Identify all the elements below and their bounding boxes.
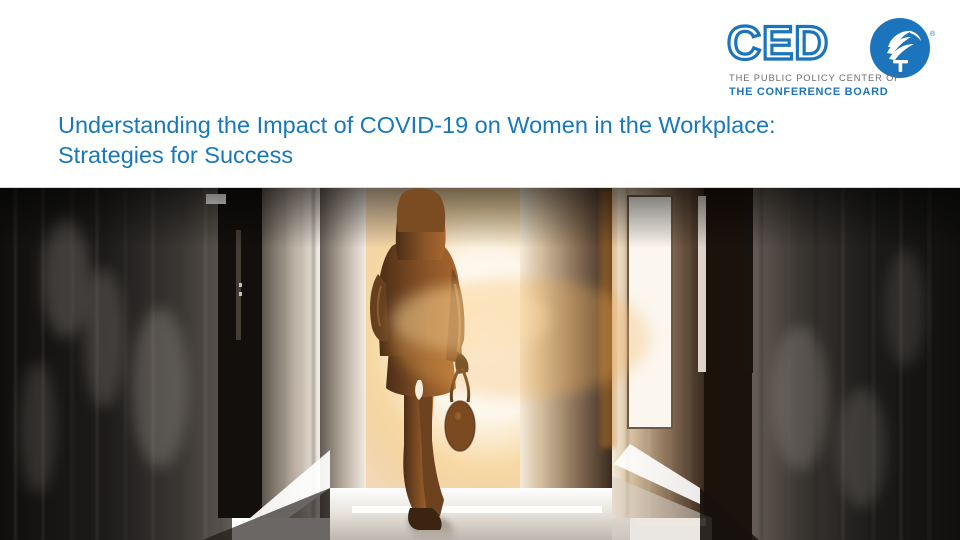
logo-tagline-top: THE PUBLIC POLICY CENTER OF (729, 73, 901, 83)
slide: CED ® THE PUBLIC POLICY CENTER OF THE CO… (0, 0, 960, 540)
registered-trademark-icon: ® (930, 31, 935, 38)
logo-wordmark: CED (727, 19, 829, 66)
hero-photo (0, 187, 960, 540)
slide-title: Understanding the Impact of COVID-19 on … (58, 110, 858, 170)
ced-logo: CED ® THE PUBLIC POLICY CENTER OF THE CO… (727, 17, 942, 97)
logo-tagline-bottom: THE CONFERENCE BOARD (729, 86, 888, 98)
corridor-silhouette-image (0, 188, 960, 540)
globe-flame-icon (869, 17, 931, 79)
